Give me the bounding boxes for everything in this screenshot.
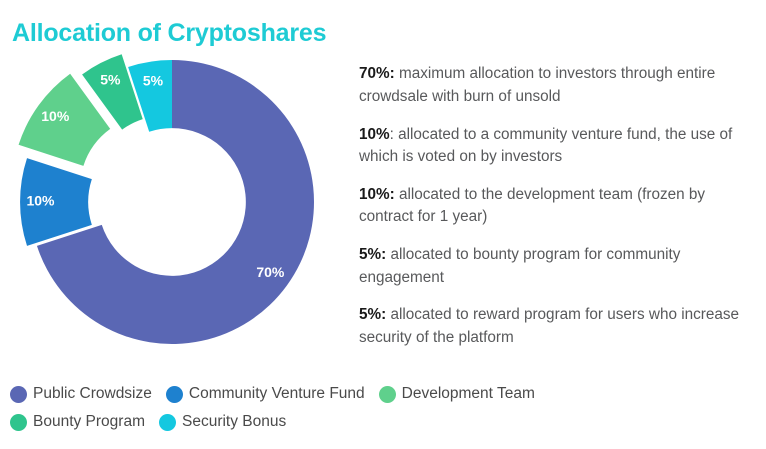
legend-swatch-icon xyxy=(159,414,176,431)
allocation-description-text: allocated to reward program for users wh… xyxy=(359,306,739,346)
legend-swatch-icon xyxy=(379,386,396,403)
legend-swatch-icon xyxy=(10,386,27,403)
legend-item[interactable]: Security Bonus xyxy=(159,411,286,433)
legend-item-label: Security Bonus xyxy=(182,413,286,431)
pie-slice-label: 5% xyxy=(100,72,121,88)
pie-slice-label: 70% xyxy=(256,264,285,280)
legend-swatch-icon xyxy=(10,414,27,431)
donut-chart: 70%10%10%5%5% xyxy=(0,44,345,364)
legend-item[interactable]: Bounty Program xyxy=(10,411,145,433)
legend-item-label: Public Crowdsize xyxy=(33,385,152,403)
allocation-percent-key: 5%: xyxy=(359,306,386,323)
allocation-description-item: 70%: maximum allocation to investors thr… xyxy=(359,63,757,108)
chart-legend: Public CrowdsizeCommunity Venture FundDe… xyxy=(10,383,570,439)
legend-item-label: Development Team xyxy=(402,385,535,403)
allocation-description-item: 10%: allocated to a community venture fu… xyxy=(359,124,757,169)
allocation-description-text: : allocated to a community venture fund,… xyxy=(359,126,732,166)
allocation-description-item: 5%: allocated to reward program for user… xyxy=(359,304,757,349)
legend-item[interactable]: Development Team xyxy=(379,383,535,405)
allocation-description-item: 10%: allocated to the development team (… xyxy=(359,184,757,229)
allocation-description-item: 5%: allocated to bounty program for comm… xyxy=(359,244,757,289)
allocation-description-list: 70%: maximum allocation to investors thr… xyxy=(359,48,757,349)
legend-item-label: Bounty Program xyxy=(33,413,145,431)
donut-chart-svg: 70%10%10%5%5% xyxy=(0,44,345,364)
allocation-percent-key: 10% xyxy=(359,126,390,143)
pie-slice-label: 5% xyxy=(143,73,164,89)
legend-item[interactable]: Community Venture Fund xyxy=(166,383,365,405)
allocation-description-text: allocated to bounty program for communit… xyxy=(359,246,680,286)
allocation-percent-key: 10%: xyxy=(359,186,395,203)
legend-item[interactable]: Public Crowdsize xyxy=(10,383,152,405)
legend-item-label: Community Venture Fund xyxy=(189,385,365,403)
allocation-description-text: allocated to the development team (froze… xyxy=(359,186,705,226)
pie-slice-label: 10% xyxy=(26,193,55,209)
legend-swatch-icon xyxy=(166,386,183,403)
allocation-description-text: maximum allocation to investors through … xyxy=(359,65,715,105)
allocation-percent-key: 70%: xyxy=(359,65,395,82)
pie-slice-label: 10% xyxy=(41,108,70,124)
allocation-percent-key: 5%: xyxy=(359,246,386,263)
